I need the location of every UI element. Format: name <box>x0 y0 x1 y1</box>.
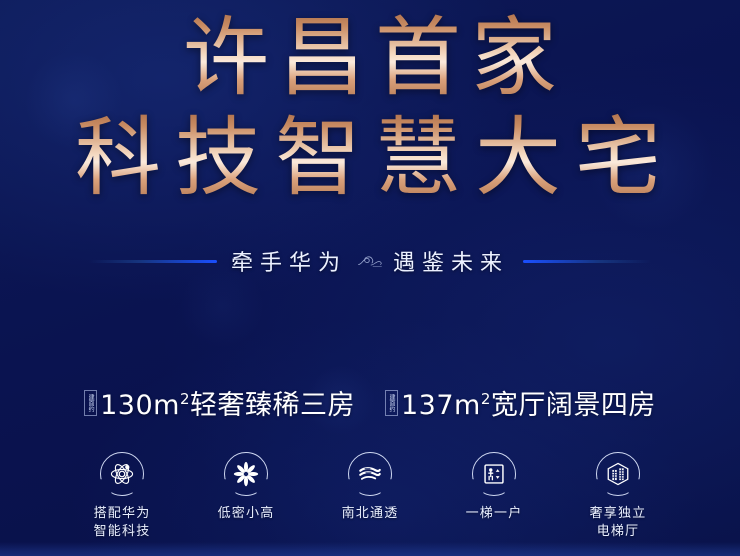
unit-area-exponent: 2 <box>481 390 491 408</box>
feature-icon-wrap <box>596 452 640 496</box>
unit-area-unit: m <box>153 390 180 421</box>
feature-label: 奢享独立 电梯厅 <box>590 505 647 541</box>
headline-line-1: 许昌首家 <box>0 8 740 108</box>
headline-block: 许昌首家 科技智慧大宅 <box>0 8 740 208</box>
subtitle-text: 牵手华为 遇鉴未来 <box>231 245 509 277</box>
subtitle-left-text: 牵手华为 <box>231 245 347 277</box>
feature-label: 一梯一户 <box>466 505 523 523</box>
feature-item-one-lift-one-unit: 一梯一户 <box>432 452 556 523</box>
unit-type-item: 建面约 137m2宽厅阔景四房 <box>385 383 656 422</box>
unit-desc: 宽厅阔景四房 <box>491 390 656 421</box>
feature-item-private-lobby: 奢享独立 电梯厅 <box>556 452 680 541</box>
breeze-icon <box>357 461 383 487</box>
feature-icon-wrap <box>224 452 268 496</box>
subtitle-right-text: 遇鉴未来 <box>393 245 509 277</box>
headline-line-2: 科技智慧大宅 <box>0 108 740 208</box>
unit-area-tag: 建面约 <box>84 390 97 416</box>
unit-type-text: 137m2宽厅阔景四房 <box>401 383 656 422</box>
unit-area-value: 130 <box>100 390 153 421</box>
feature-icon-wrap <box>472 452 516 496</box>
atom-icon <box>109 461 135 487</box>
poster-canvas: 许昌首家 科技智慧大宅 牵手华为 遇鉴未来 建面约 130m2轻奢臻稀三房 建面… <box>0 0 740 556</box>
unit-type-list: 建面约 130m2轻奢臻稀三房 建面约 137m2宽厅阔景四房 <box>0 383 740 422</box>
unit-type-item: 建面约 130m2轻奢臻稀三房 <box>84 383 355 422</box>
feature-icon-wrap <box>100 452 144 496</box>
decorative-rule-right-icon <box>523 260 651 263</box>
unit-desc: 轻奢臻稀三房 <box>190 390 355 421</box>
background-bottom-band <box>0 542 740 556</box>
unit-area-unit: m <box>454 390 481 421</box>
unit-type-text: 130m2轻奢臻稀三房 <box>100 383 355 422</box>
unit-area-value: 137 <box>401 390 454 421</box>
feature-item-cross-ventilation: 南北通透 <box>308 452 432 523</box>
feature-item-huawei-smart: 搭配华为 智能科技 <box>60 452 184 541</box>
lobby-icon <box>605 461 631 487</box>
elevator-icon <box>481 461 507 487</box>
feature-label: 低密小高 <box>218 505 275 523</box>
feature-label: 搭配华为 智能科技 <box>94 505 151 541</box>
unit-area-exponent: 2 <box>180 390 190 408</box>
feature-icon-wrap <box>348 452 392 496</box>
feature-item-low-density: 低密小高 <box>184 452 308 523</box>
feature-label: 南北通透 <box>342 505 399 523</box>
decorative-rule-left-icon <box>89 260 217 263</box>
flourish-ornament-icon <box>357 253 383 269</box>
feature-list: 搭配华为 智能科技 <box>0 452 740 541</box>
subtitle-block: 牵手华为 遇鉴未来 <box>0 245 740 277</box>
flower-icon <box>233 461 259 487</box>
unit-area-tag: 建面约 <box>385 390 398 416</box>
